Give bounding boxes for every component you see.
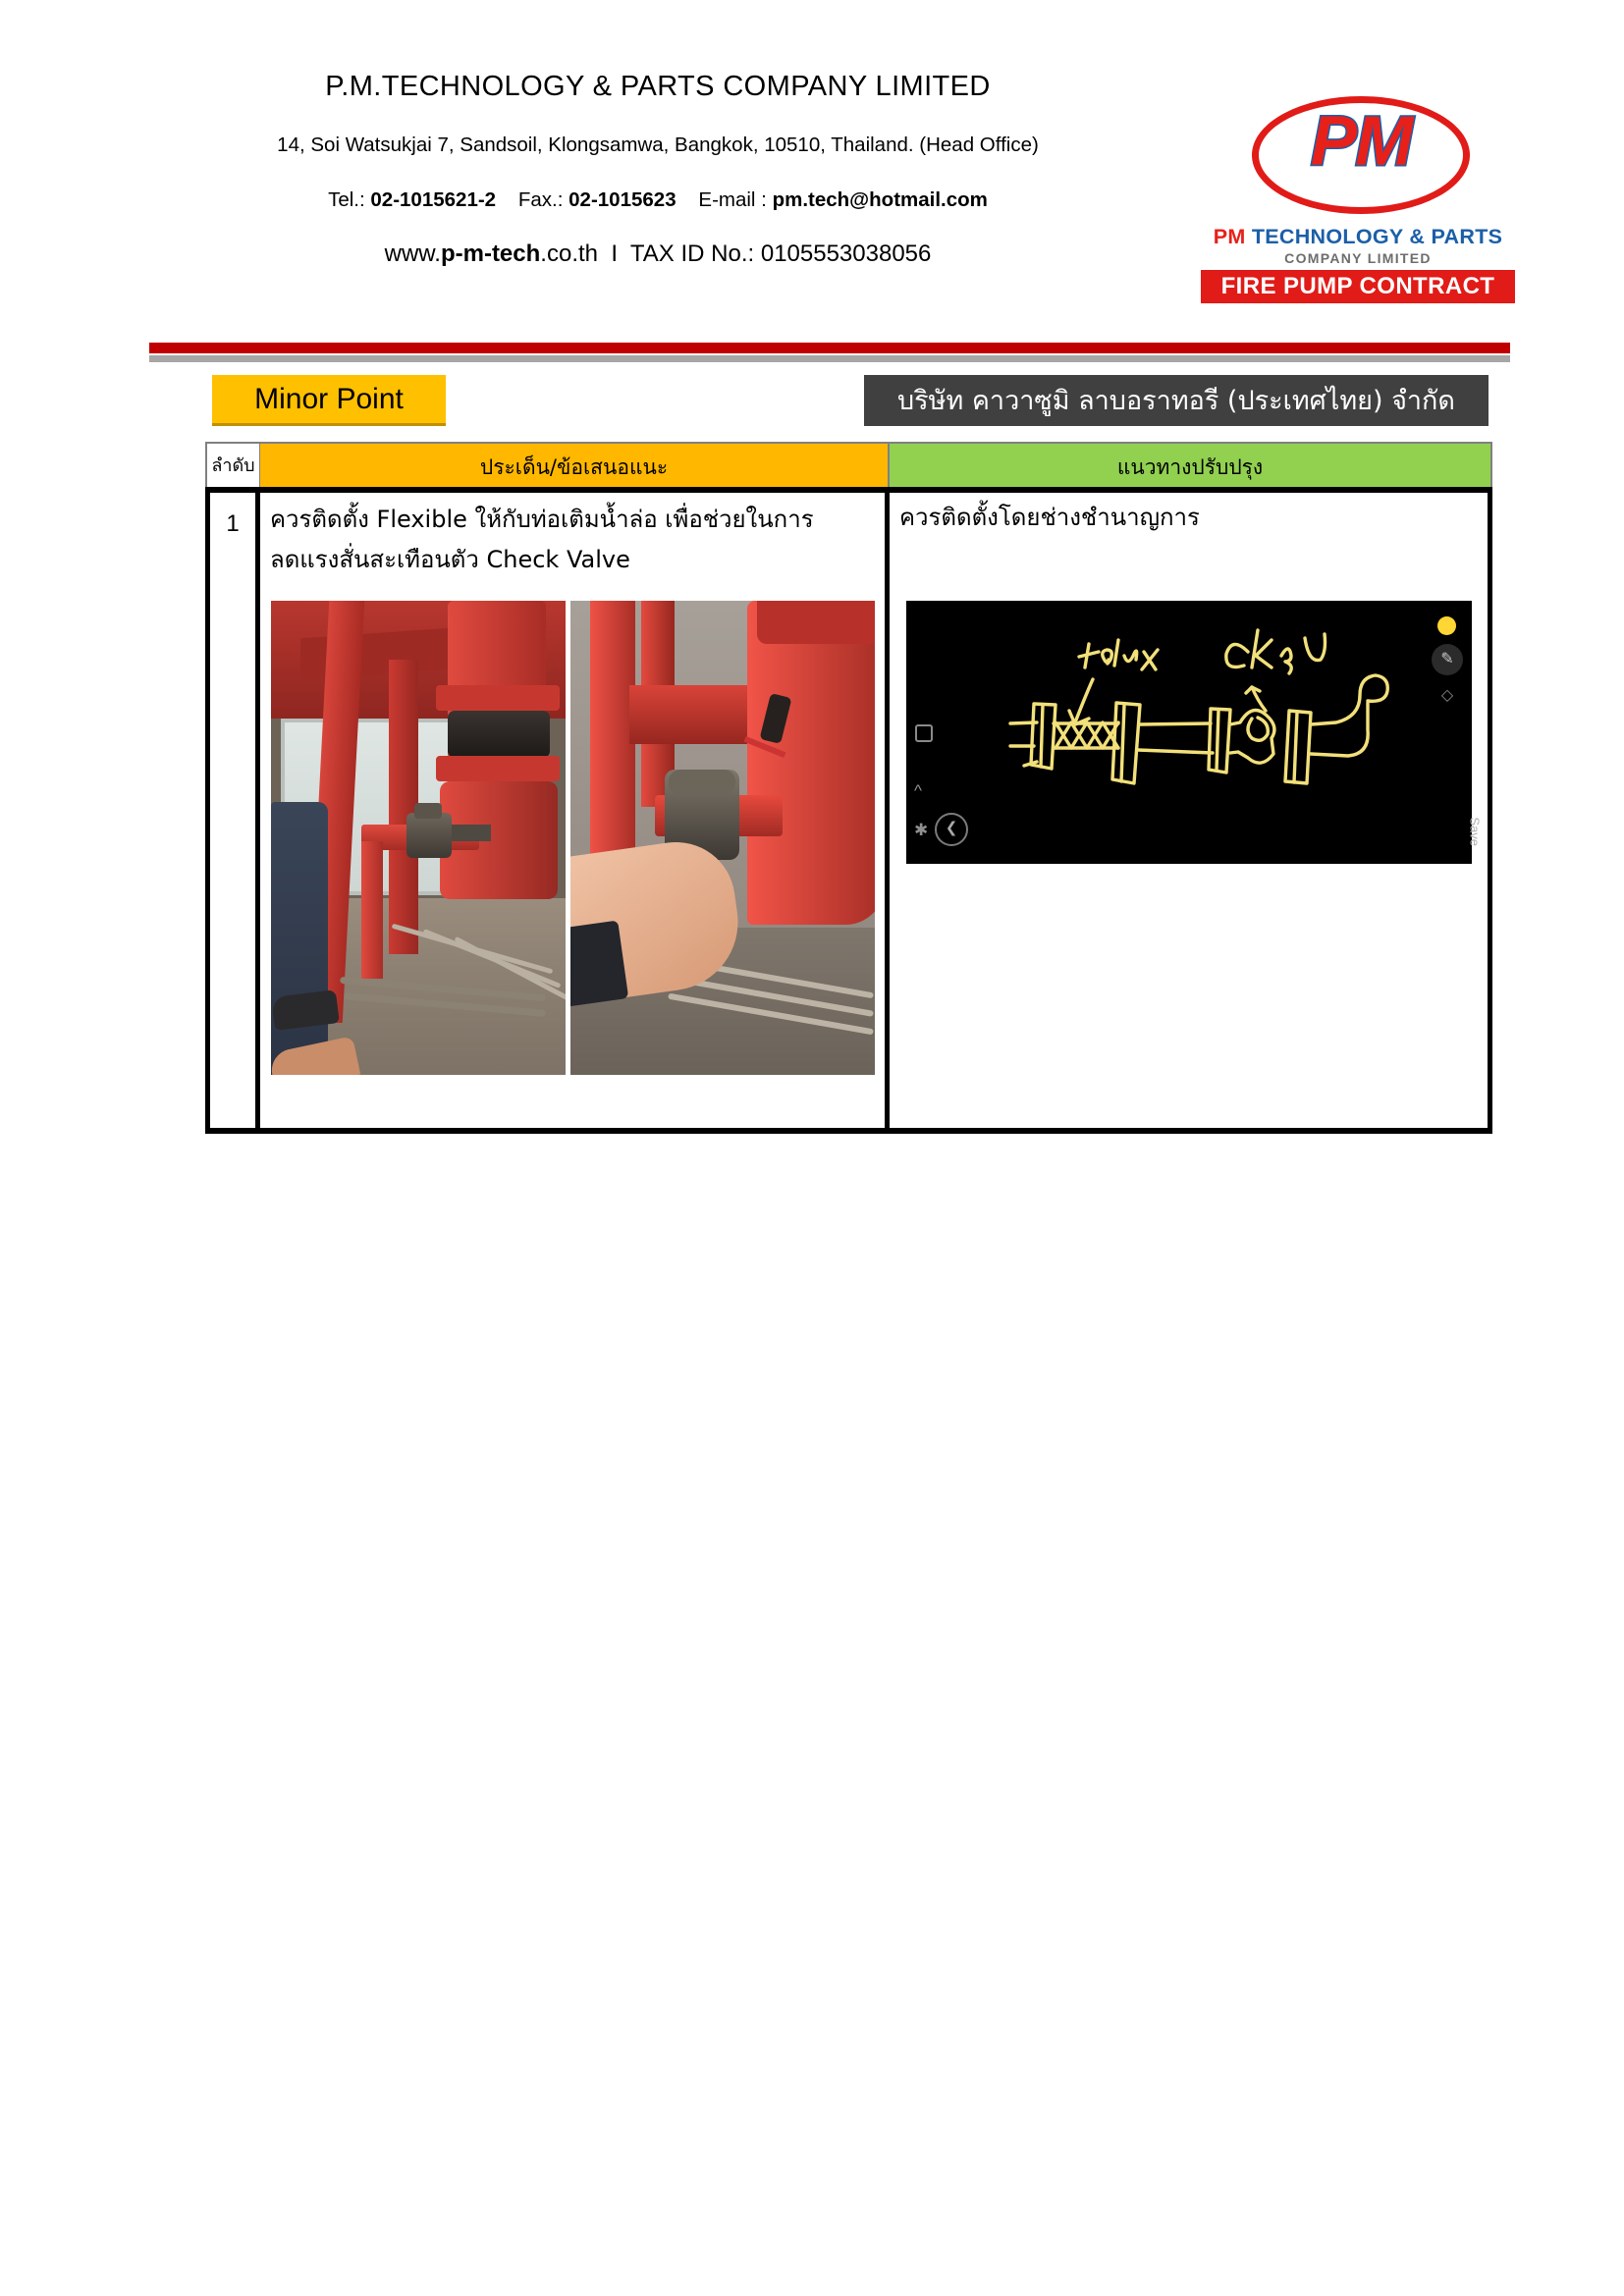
photo1-check-valve (406, 813, 452, 858)
photo2-pump-base (629, 685, 767, 744)
website-url[interactable]: www.p-m-tech.co.th (385, 240, 598, 267)
fax-number: 02-1015623 (568, 188, 676, 211)
photo1-valve-outlet (452, 825, 491, 841)
tax-id: 0105553038056 (761, 240, 932, 267)
company-address: 14, Soi Watsukjai 7, Sandsoil, Klongsamw… (147, 133, 1168, 157)
tel-label: Tel.: (328, 188, 365, 211)
column-header-no: ลำดับ (205, 444, 260, 487)
logo-tagline-pm: PM (1214, 225, 1246, 248)
red-divider-rule (149, 343, 1510, 353)
logo-banner-fire-pump-contract: FIRE PUMP CONTRACT (1201, 270, 1515, 303)
company-name: P.M.TECHNOLOGY & PARTS COMPANY LIMITED (147, 71, 1168, 103)
findings-table: ลำดับ ประเด็น/ข้อเสนอแนะ แนวทางปรับปรุง … (205, 442, 1492, 1134)
line-separator: I (611, 240, 618, 267)
tax-label: TAX ID No.: (630, 240, 754, 267)
company-logo: PM PM TECHNOLOGY & PARTS COMPANY LIMITED… (1201, 79, 1515, 309)
logo-tagline-company-limited: COMPANY LIMITED (1201, 250, 1515, 266)
sketch-drawing (906, 601, 1472, 864)
email-label: E-mail : (698, 188, 766, 211)
eraser-tool-icon[interactable]: ◇ (1436, 685, 1458, 707)
photo1-drop-pipe (361, 841, 383, 979)
table-header-row: ลำดับ ประเด็น/ข้อเสนอแนะ แนวทางปรับปรุง (205, 442, 1492, 487)
website-brand: p-m-tech (441, 240, 540, 267)
issue-text-line-1: ควรติดตั้ง Flexible ให้กับท่อเติมน้ำล่อ … (270, 500, 879, 540)
issue-text-line-2: ลดแรงสั่นสะเทือนตัว Check Valve (270, 540, 879, 580)
document-page: P.M.TECHNOLOGY & PARTS COMPANY LIMITED 1… (0, 0, 1624, 2296)
web-tax-line: www.p-m-tech.co.th I TAX ID No.: 0105553… (147, 240, 1168, 268)
logo-tagline-rest: TECHNOLOGY & PARTS (1246, 225, 1503, 248)
pen-tool-icon[interactable]: ✎ (1432, 644, 1463, 675)
photo-check-valve-close-up (570, 601, 875, 1075)
client-name-label: บริษัท คาวาซูมิ ลาบอราทอรี (ประเทศไทย) จ… (864, 375, 1489, 426)
square-nav-icon[interactable] (915, 724, 933, 742)
column-header-fix: แนวทางปรับปรุง (890, 444, 1492, 487)
logo-monogram: PM (1201, 107, 1521, 177)
cell-issue: ควรติดตั้ง Flexible ให้กับท่อเติมน้ำล่อ … (260, 493, 890, 1134)
email-address: pm.tech@hotmail.com (773, 188, 988, 211)
photo2-pump-top (757, 601, 875, 644)
photo2-pump-casing (747, 601, 875, 925)
handwritten-sketch-screenshot: ✎ ◇ ^ ✱ ❮ Save (906, 601, 1472, 864)
sketch-save-button[interactable]: Save (1468, 817, 1483, 846)
cell-row-number: 1 (205, 493, 260, 1134)
photo1-rubber-expansion-joint (448, 711, 550, 758)
letterhead: P.M.TECHNOLOGY & PARTS COMPANY LIMITED 1… (0, 0, 1624, 324)
contact-line: Tel.: 02-1015621-2 Fax.: 02-1015623 E-ma… (147, 188, 1168, 212)
issue-text: ควรติดตั้ง Flexible ให้กับท่อเติมน้ำล่อ … (260, 493, 885, 581)
row-number-value: 1 (210, 510, 255, 538)
cell-recommendation: ควรติดตั้งโดยช่างชำนาญการ (890, 493, 1492, 1134)
photo1-valve-cap (414, 803, 442, 819)
client-name-bar: บริษัท คาวาซูมิ ลาบอราทอรี (ประเทศไทย) จ… (864, 375, 1489, 426)
photo2-valve-cap (669, 770, 735, 795)
back-button-icon[interactable]: ❮ (935, 813, 968, 846)
photo1-lower-flange (436, 756, 560, 781)
minor-point-label: Minor Point (212, 375, 446, 423)
column-header-issue: ประเด็น/ข้อเสนอแนะ (260, 444, 890, 487)
table-row: 1 ควรติดตั้ง Flexible ให้กับท่อเติมน้ำล่… (205, 487, 1492, 1134)
issue-photo-group (271, 601, 880, 1075)
logo-tagline-technology-parts: PM TECHNOLOGY & PARTS (1201, 225, 1515, 249)
sketch-color-swatch-yellow[interactable] (1437, 616, 1456, 635)
asterisk-icon[interactable]: ✱ (914, 821, 928, 840)
photo1-upper-flange (436, 685, 560, 711)
chevron-up-icon[interactable]: ^ (914, 781, 922, 801)
recommendation-text: ควรติดตั้งโดยช่างชำนาญการ (890, 493, 1488, 535)
report-title-row: Minor Point บริษัท คาวาซูมิ ลาบอราทอรี (… (212, 375, 1489, 426)
photo1-person-legs (271, 802, 328, 1075)
fax-label: Fax.: (518, 188, 564, 211)
photo-fire-pump-flexible-joint (271, 601, 566, 1075)
minor-point-badge: Minor Point (212, 375, 446, 426)
letterhead-text-block: P.M.TECHNOLOGY & PARTS COMPANY LIMITED 1… (147, 71, 1168, 268)
grey-divider-rule (149, 355, 1510, 362)
tel-number: 02-1015621-2 (370, 188, 496, 211)
